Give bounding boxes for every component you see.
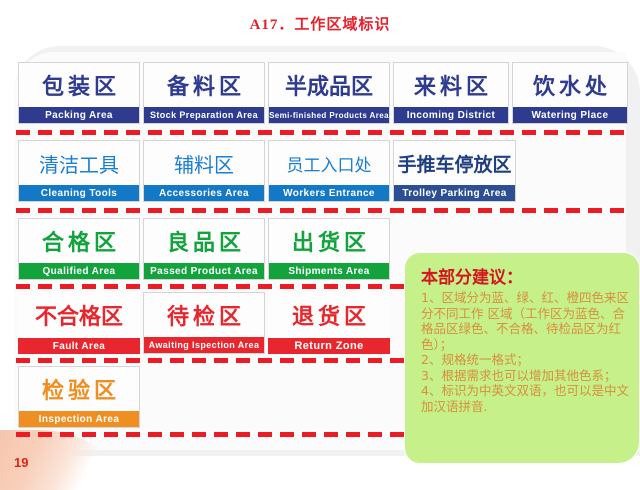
sign-label-english: Awaiting Ispection Area — [144, 337, 264, 353]
area-sign: 备料区Stock Preparation Area — [143, 62, 265, 124]
sign-label-english: Incoming District — [394, 107, 508, 123]
sign-label-chinese: 饮水处 — [513, 63, 627, 107]
sign-label-english: Stock Preparation Area — [144, 107, 264, 123]
sign-label-english: Cleaning Tools — [19, 185, 139, 201]
advice-box: 本部分建议： 1、区域分为蓝、绿、红、橙四色来区分不同工作 区域（工作区为蓝色、… — [404, 252, 640, 464]
area-sign: 待检区Awaiting Ispection Area — [143, 292, 265, 354]
sign-label-english: Qualified Area — [19, 263, 139, 279]
sign-label-chinese: 待检区 — [144, 293, 264, 337]
sign-label-english: Shipments Area — [269, 263, 389, 279]
sign-label-chinese: 来料区 — [394, 63, 508, 107]
area-sign: 包装区Packing Area — [18, 62, 140, 124]
sign-label-chinese: 合格区 — [19, 219, 139, 263]
advice-line: 1、区域分为蓝、绿、红、橙四色来区分不同工作 区域（工作区为蓝色、合格品区绿色、… — [421, 290, 631, 352]
sign-label-english: Accessories Area — [144, 185, 264, 201]
area-sign: 退货区Return Zone — [268, 292, 390, 354]
area-sign: 合格区Qualified Area — [18, 218, 140, 280]
area-sign: 手推车停放区Trolley Parking Area — [393, 140, 516, 202]
sign-label-english: Return Zone — [268, 338, 390, 354]
advice-line: 3、根据需求也可以增加其他色系； — [421, 368, 631, 384]
row-separator-dashed-line — [16, 208, 628, 213]
sign-label-english: Passed Product Area — [144, 263, 264, 279]
sign-label-english: Workers Entrance — [269, 185, 389, 201]
sign-label-chinese: 不合格区 — [18, 292, 140, 338]
area-sign: 检验区Inspection Area — [18, 366, 140, 428]
page-title: A17．工作区域标识 — [0, 13, 640, 34]
advice-body: 1、区域分为蓝、绿、红、橙四色来区分不同工作 区域（工作区为蓝色、合格品区绿色、… — [421, 290, 631, 414]
area-sign: 半成品区Semi-finished Products Area — [268, 62, 390, 124]
page-number: 19 — [14, 455, 28, 470]
sign-label-chinese: 手推车停放区 — [394, 141, 515, 185]
area-sign: 饮水处Watering Place — [512, 62, 628, 124]
area-sign: 清洁工具Cleaning Tools — [18, 140, 140, 202]
advice-title: 本部分建议： — [421, 263, 631, 288]
area-sign: 良品区Passed Product Area — [143, 218, 265, 280]
advice-line: 2、规格统一格式； — [421, 352, 631, 368]
sign-label-english: Inspection Area — [19, 411, 139, 427]
sign-label-chinese: 出货区 — [269, 219, 389, 263]
sign-label-chinese: 包装区 — [19, 63, 139, 107]
sign-label-chinese: 员工入口处 — [269, 141, 389, 185]
sign-label-chinese: 清洁工具 — [19, 141, 139, 185]
row-separator-dashed-line — [16, 130, 628, 135]
sign-label-chinese: 备料区 — [144, 63, 264, 107]
sign-label-english: Semi-finished Products Area — [269, 107, 389, 123]
sign-label-chinese: 退货区 — [268, 292, 390, 338]
sign-label-english: Trolley Parking Area — [394, 185, 515, 201]
sign-label-english: Watering Place — [513, 107, 627, 123]
sign-label-english: Packing Area — [19, 107, 139, 123]
sign-label-english: Fault Area — [18, 338, 140, 354]
sign-label-chinese: 辅料区 — [144, 141, 264, 185]
sign-label-chinese: 检验区 — [19, 367, 139, 411]
area-sign: 不合格区Fault Area — [18, 292, 140, 354]
advice-line: 4、标识为中英文双语，也可以是中文加汉语拼音. — [421, 383, 631, 414]
area-sign: 员工入口处Workers Entrance — [268, 140, 390, 202]
sign-label-chinese: 半成品区 — [269, 63, 389, 107]
area-sign: 来料区Incoming District — [393, 62, 509, 124]
area-sign: 辅料区Accessories Area — [143, 140, 265, 202]
area-sign: 出货区Shipments Area — [268, 218, 390, 280]
sign-label-chinese: 良品区 — [144, 219, 264, 263]
